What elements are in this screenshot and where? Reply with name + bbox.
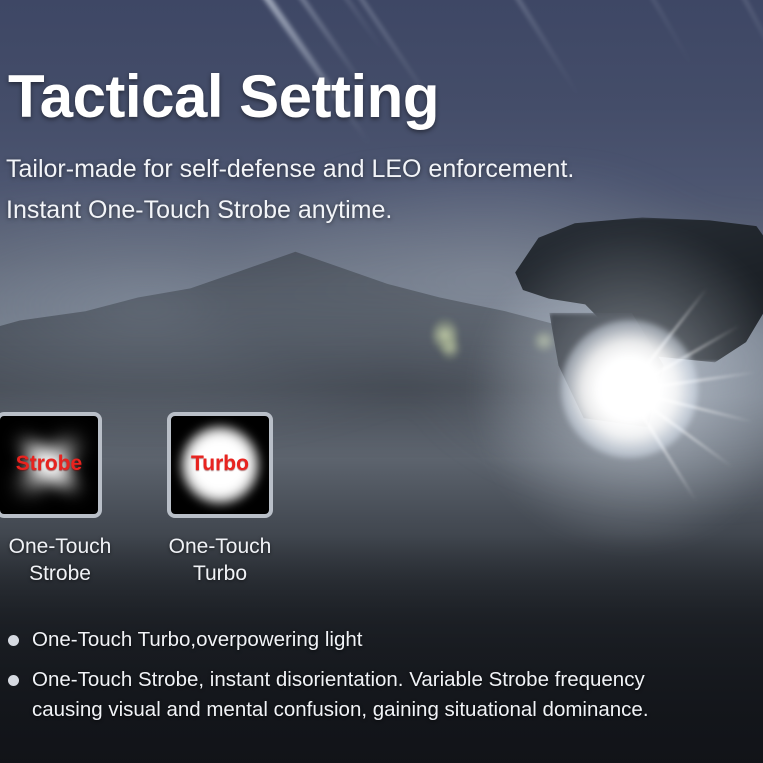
badge-label-turbo: Turbo [171,452,269,476]
bullet-dot-icon [8,635,19,646]
badge-label-strobe: Strobe [0,452,98,476]
mode-caption-turbo-line-1: One-Touch [158,533,282,560]
subtitle-line-2: Instant One-Touch Strobe anytime. [6,196,392,225]
mode-caption-strobe: One-Touch Strobe [0,533,122,587]
feature-bullet-list: One-Touch Turbo,overpowering light One-T… [0,625,763,735]
bullet-text-1: One-Touch Turbo,overpowering light [32,625,763,655]
slide-canvas: Tactical Setting Tailor-made for self-de… [0,0,763,763]
mode-caption-strobe-line-2: Strobe [0,560,122,587]
slide-content: Tactical Setting Tailor-made for self-de… [0,0,763,763]
bullet-text-2-line-1: One-Touch Strobe, instant disorientation… [32,665,763,695]
mode-caption-strobe-line-1: One-Touch [0,533,122,560]
list-item: One-Touch Strobe, instant disorientation… [0,665,763,725]
bullet-text-2-line-2: causing visual and mental confusion, gai… [32,695,763,725]
mode-caption-turbo: One-Touch Turbo [158,533,282,587]
mode-badge-strobe[interactable]: Strobe [0,412,102,518]
mode-badge-turbo[interactable]: Turbo [167,412,273,518]
subtitle-line-1: Tailor-made for self-defense and LEO enf… [6,155,574,184]
bullet-dot-icon [8,675,19,686]
list-item: One-Touch Turbo,overpowering light [0,625,763,655]
mode-caption-turbo-line-2: Turbo [158,560,282,587]
page-title: Tactical Setting [8,62,439,131]
